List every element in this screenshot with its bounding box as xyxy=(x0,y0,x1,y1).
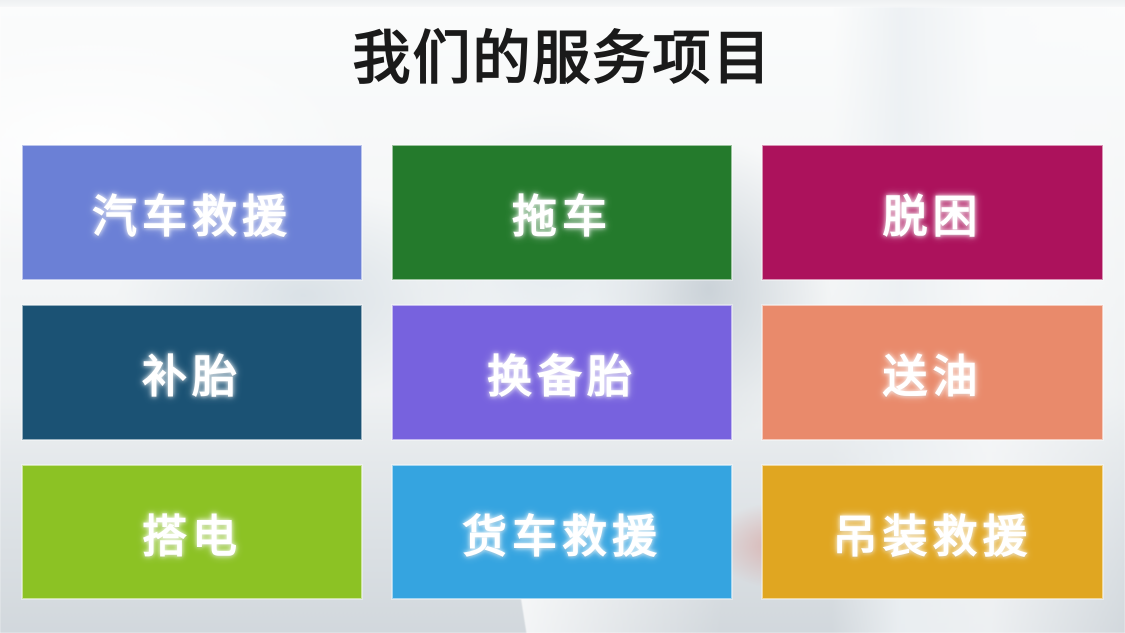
service-tile-label: 货车救援 xyxy=(462,500,662,565)
service-tile-label: 搭电 xyxy=(142,500,242,565)
service-slide: 我们的服务项目 汽车救援 拖车 脱困 补胎 换备胎 送油 搭电 货车救援 吊装救… xyxy=(0,0,1125,633)
service-tile-label: 送油 xyxy=(882,340,982,405)
top-divider-band xyxy=(0,0,1125,7)
service-tile-label: 换备胎 xyxy=(487,340,637,405)
service-tile-tire-repair[interactable]: 补胎 xyxy=(22,305,362,440)
service-tile-label: 脱困 xyxy=(882,180,982,245)
service-tile-label: 吊装救援 xyxy=(832,500,1032,565)
service-tile-fuel-delivery[interactable]: 送油 xyxy=(762,305,1103,440)
page-title: 我们的服务项目 xyxy=(0,18,1125,98)
service-tile-spare-tire-change[interactable]: 换备胎 xyxy=(392,305,732,440)
service-tile-towing[interactable]: 拖车 xyxy=(392,145,732,280)
service-tile-crane-rescue[interactable]: 吊装救援 xyxy=(762,465,1103,599)
service-tile-label: 拖车 xyxy=(512,180,612,245)
service-tile-label: 汽车救援 xyxy=(92,180,292,245)
service-tile-extrication[interactable]: 脱困 xyxy=(762,145,1103,280)
service-tile-jump-start[interactable]: 搭电 xyxy=(22,465,362,599)
service-tile-car-rescue[interactable]: 汽车救援 xyxy=(22,145,362,280)
service-tile-truck-rescue[interactable]: 货车救援 xyxy=(392,465,732,599)
service-tile-label: 补胎 xyxy=(142,340,242,405)
service-grid: 汽车救援 拖车 脱困 补胎 换备胎 送油 搭电 货车救援 吊装救援 xyxy=(22,145,1103,599)
